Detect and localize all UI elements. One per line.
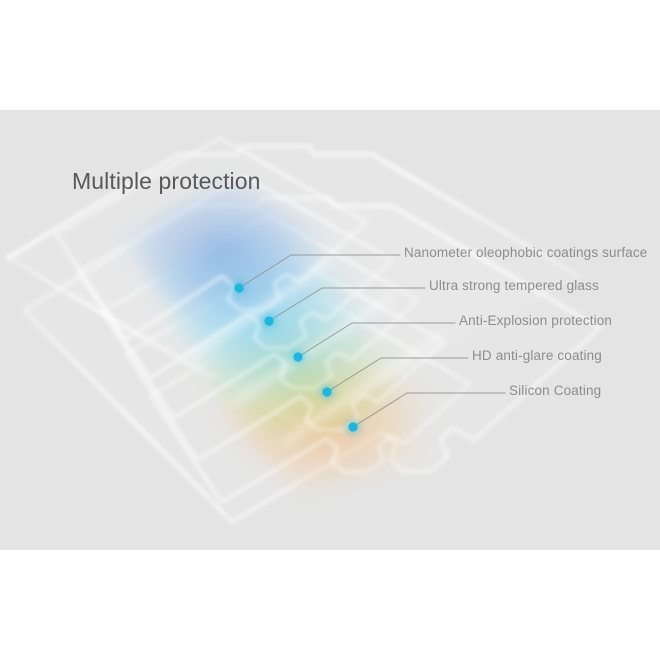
marker-dot-5 (345, 419, 361, 435)
marker-dot-2 (261, 313, 277, 329)
page-title: Multiple protection (72, 168, 261, 195)
callout-label-ultra-strong-tempered-glass: Ultra strong tempered glass (429, 278, 599, 293)
callout-label-anti-explosion-protection: Anti-Explosion protection (459, 313, 612, 328)
marker-dot-1 (231, 280, 247, 296)
marker-dot-3 (290, 349, 306, 365)
callout-label-hd-anti-glare-coating: HD anti-glare coating (472, 348, 602, 363)
marker-dot-4 (319, 384, 335, 400)
callout-label-nanometer-oleophobic-coatings-surface: Nanometer oleophobic coatings surface (404, 245, 647, 260)
callout-label-silicon-coating: Silicon Coating (509, 383, 601, 398)
product-feature-image: Nanometer oleophobic coatings surface Ul… (0, 0, 660, 660)
